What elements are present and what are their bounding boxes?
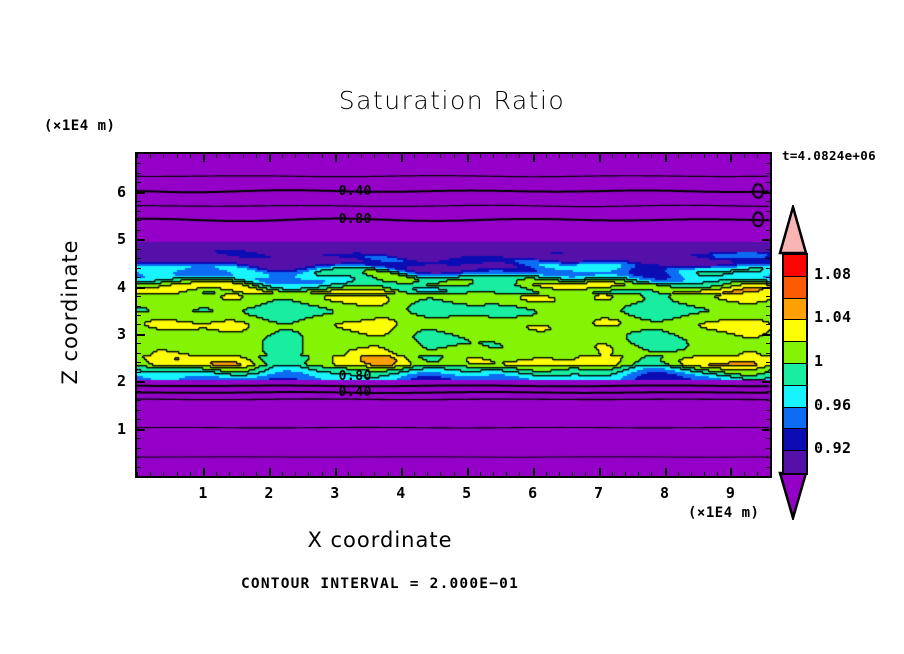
tick-mark bbox=[136, 419, 141, 420]
tick-mark bbox=[467, 153, 469, 162]
tick-mark bbox=[256, 472, 257, 477]
tick-mark bbox=[480, 472, 481, 477]
x-tick-label: 1 bbox=[188, 484, 218, 502]
tick-mark bbox=[766, 476, 771, 477]
x-tick-label: 3 bbox=[320, 484, 350, 502]
colorbar-label: 1.04 bbox=[814, 308, 851, 326]
tick-mark bbox=[744, 153, 745, 158]
tick-mark bbox=[136, 277, 141, 278]
tick-mark bbox=[136, 362, 141, 363]
tick-mark bbox=[638, 153, 639, 158]
tick-mark bbox=[136, 249, 141, 250]
colorbar-band bbox=[784, 299, 806, 321]
tick-mark bbox=[559, 472, 560, 477]
tick-mark bbox=[137, 472, 138, 477]
tick-mark bbox=[625, 153, 626, 158]
tick-mark bbox=[766, 324, 771, 325]
tick-mark bbox=[730, 468, 732, 477]
tick-mark bbox=[136, 230, 141, 231]
colorbar-band bbox=[784, 342, 806, 364]
tick-mark bbox=[269, 153, 271, 162]
tick-mark bbox=[651, 472, 652, 477]
tick-mark bbox=[506, 153, 507, 158]
tick-mark bbox=[136, 467, 141, 468]
tick-mark bbox=[546, 472, 547, 477]
colorbar-band bbox=[784, 451, 806, 473]
tick-mark bbox=[519, 472, 520, 477]
tick-mark bbox=[766, 315, 771, 316]
tick-mark bbox=[136, 173, 141, 174]
tick-mark bbox=[766, 201, 771, 202]
tick-mark bbox=[766, 249, 771, 250]
x-tick-label: 2 bbox=[254, 484, 284, 502]
tick-mark bbox=[651, 153, 652, 158]
tick-mark bbox=[136, 429, 145, 431]
tick-mark bbox=[414, 153, 415, 158]
tick-mark bbox=[136, 268, 141, 269]
tick-mark bbox=[762, 287, 771, 289]
contour-interval-caption: CONTOUR INTERVAL = 2.000E−01 bbox=[0, 576, 760, 592]
tick-mark bbox=[493, 153, 494, 158]
tick-mark bbox=[572, 153, 573, 158]
tick-mark bbox=[295, 153, 296, 158]
tick-mark bbox=[374, 153, 375, 158]
colorbar-band bbox=[784, 255, 806, 277]
tick-mark bbox=[295, 472, 296, 477]
x-tick-label: 9 bbox=[715, 484, 745, 502]
tick-mark bbox=[136, 438, 141, 439]
z-axis-unit-label: (×1E4 m) bbox=[44, 118, 115, 134]
tick-mark bbox=[766, 163, 771, 164]
tick-mark bbox=[216, 153, 217, 158]
tick-mark bbox=[163, 153, 164, 158]
tick-mark bbox=[533, 153, 535, 162]
tick-mark bbox=[766, 296, 771, 297]
tick-mark bbox=[177, 153, 178, 158]
tick-mark bbox=[361, 472, 362, 477]
tick-mark bbox=[585, 472, 586, 477]
tick-mark bbox=[730, 153, 732, 162]
tick-mark bbox=[770, 472, 771, 477]
tick-mark bbox=[136, 372, 141, 373]
tick-mark bbox=[762, 429, 771, 431]
tick-mark bbox=[282, 153, 283, 158]
tick-mark bbox=[766, 438, 771, 439]
tick-mark bbox=[757, 472, 758, 477]
tick-mark bbox=[136, 315, 141, 316]
tick-mark bbox=[243, 153, 244, 158]
tick-mark bbox=[770, 153, 771, 158]
tick-mark bbox=[506, 472, 507, 477]
tick-mark bbox=[136, 211, 141, 212]
tick-mark bbox=[440, 153, 441, 158]
tick-mark bbox=[282, 472, 283, 477]
tick-mark bbox=[136, 182, 141, 183]
tick-mark bbox=[374, 472, 375, 477]
tick-mark bbox=[704, 472, 705, 477]
tick-mark bbox=[163, 472, 164, 477]
tick-mark bbox=[335, 153, 337, 162]
contour-label: 0.40 bbox=[339, 184, 372, 199]
tick-mark bbox=[348, 472, 349, 477]
tick-mark bbox=[665, 468, 667, 477]
tick-mark bbox=[440, 472, 441, 477]
tick-mark bbox=[493, 472, 494, 477]
tick-mark bbox=[766, 391, 771, 392]
contour-plot-area[interactable]: 0.400.800.800.40 bbox=[135, 152, 772, 478]
tick-mark bbox=[599, 153, 601, 162]
tick-mark bbox=[136, 306, 141, 307]
tick-mark bbox=[766, 258, 771, 259]
tick-mark bbox=[322, 153, 323, 158]
tick-mark bbox=[136, 220, 141, 221]
tick-mark bbox=[546, 153, 547, 158]
y-tick-label: 6 bbox=[100, 183, 126, 201]
tick-mark bbox=[766, 419, 771, 420]
tick-mark bbox=[401, 468, 403, 477]
colorbar-label: 1 bbox=[814, 352, 823, 370]
tick-mark bbox=[766, 457, 771, 458]
tick-mark bbox=[136, 258, 141, 259]
tick-mark bbox=[229, 472, 230, 477]
tick-mark bbox=[136, 410, 141, 411]
tick-mark bbox=[585, 153, 586, 158]
tick-mark bbox=[256, 153, 257, 158]
tick-mark bbox=[691, 472, 692, 477]
tick-mark bbox=[467, 468, 469, 477]
tick-mark bbox=[136, 201, 141, 202]
tick-mark bbox=[136, 476, 141, 477]
colorbar-band bbox=[784, 364, 806, 386]
tick-mark bbox=[348, 153, 349, 158]
colorbar-band bbox=[784, 277, 806, 299]
tick-mark bbox=[308, 153, 309, 158]
tick-mark bbox=[322, 472, 323, 477]
tick-mark bbox=[136, 343, 141, 344]
tick-mark bbox=[243, 472, 244, 477]
tick-mark bbox=[762, 334, 771, 336]
tick-mark bbox=[150, 472, 151, 477]
colorbar-band bbox=[784, 386, 806, 408]
tick-mark bbox=[177, 472, 178, 477]
colorbar-bands bbox=[782, 253, 808, 475]
tick-mark bbox=[766, 372, 771, 373]
contour-label: 0.40 bbox=[339, 385, 372, 400]
tick-mark bbox=[717, 472, 718, 477]
tick-mark bbox=[190, 153, 191, 158]
colorbar-label: 0.92 bbox=[814, 439, 851, 457]
tick-mark bbox=[269, 468, 271, 477]
tick-mark bbox=[757, 153, 758, 158]
tick-mark bbox=[678, 472, 679, 477]
tick-mark bbox=[612, 472, 613, 477]
tick-mark bbox=[762, 239, 771, 241]
tick-mark bbox=[744, 472, 745, 477]
colorbar[interactable]: 1.081.0410.960.92 bbox=[778, 205, 898, 520]
tick-mark bbox=[229, 153, 230, 158]
tick-mark bbox=[335, 468, 337, 477]
tick-mark bbox=[612, 153, 613, 158]
tick-mark bbox=[678, 153, 679, 158]
tick-mark bbox=[766, 400, 771, 401]
tick-mark bbox=[766, 211, 771, 212]
tick-mark bbox=[427, 472, 428, 477]
tick-mark bbox=[766, 410, 771, 411]
tick-mark bbox=[308, 472, 309, 477]
page-title: Saturation Ratio bbox=[0, 86, 904, 115]
tick-mark bbox=[427, 153, 428, 158]
tick-mark bbox=[454, 153, 455, 158]
tick-mark bbox=[388, 153, 389, 158]
tick-mark bbox=[572, 472, 573, 477]
tick-mark bbox=[136, 353, 141, 354]
tick-mark bbox=[599, 468, 601, 477]
contour-label: 0.80 bbox=[339, 369, 372, 384]
tick-mark bbox=[401, 153, 403, 162]
tick-mark bbox=[203, 153, 205, 162]
tick-mark bbox=[691, 153, 692, 158]
tick-mark bbox=[766, 182, 771, 183]
x-tick-label: 5 bbox=[452, 484, 482, 502]
tick-mark bbox=[136, 334, 145, 336]
tick-mark bbox=[766, 343, 771, 344]
tick-mark bbox=[766, 362, 771, 363]
x-tick-label: 6 bbox=[518, 484, 548, 502]
tick-mark bbox=[766, 448, 771, 449]
tick-mark bbox=[136, 391, 141, 392]
colorbar-band bbox=[784, 320, 806, 342]
tick-mark bbox=[480, 153, 481, 158]
tick-mark bbox=[533, 468, 535, 477]
x-tick-label: 4 bbox=[386, 484, 416, 502]
tick-mark bbox=[150, 153, 151, 158]
tick-mark bbox=[361, 153, 362, 158]
tick-mark bbox=[762, 381, 771, 383]
y-tick-label: 3 bbox=[100, 325, 126, 343]
tick-mark bbox=[414, 472, 415, 477]
tick-mark bbox=[625, 472, 626, 477]
colorbar-band bbox=[784, 429, 806, 451]
tick-mark bbox=[136, 448, 141, 449]
tick-mark bbox=[766, 467, 771, 468]
tick-mark bbox=[136, 400, 141, 401]
tick-mark bbox=[136, 239, 145, 241]
tick-mark bbox=[190, 472, 191, 477]
tick-mark bbox=[559, 153, 560, 158]
x-axis-title: X coordinate bbox=[0, 528, 760, 552]
tick-mark bbox=[766, 220, 771, 221]
tick-mark bbox=[717, 153, 718, 158]
colorbar-label: 0.96 bbox=[814, 396, 851, 414]
tick-mark bbox=[665, 153, 667, 162]
tick-mark bbox=[203, 468, 205, 477]
tick-mark bbox=[766, 306, 771, 307]
tick-mark bbox=[766, 353, 771, 354]
tick-mark bbox=[454, 472, 455, 477]
tick-mark bbox=[136, 324, 141, 325]
tick-mark bbox=[766, 230, 771, 231]
tick-mark bbox=[766, 277, 771, 278]
tick-mark bbox=[136, 287, 145, 289]
time-stamp-label: t=4.0824e+06 bbox=[782, 148, 876, 163]
tick-mark bbox=[136, 296, 141, 297]
saturation-ratio-field bbox=[137, 154, 770, 476]
colorbar-label: 1.08 bbox=[814, 265, 851, 283]
contour-label: 0.80 bbox=[339, 212, 372, 227]
y-tick-label: 4 bbox=[100, 278, 126, 296]
tick-mark bbox=[766, 268, 771, 269]
tick-mark bbox=[704, 153, 705, 158]
colorbar-band bbox=[784, 408, 806, 430]
x-tick-label: 8 bbox=[650, 484, 680, 502]
tick-mark bbox=[136, 192, 145, 194]
tick-mark bbox=[762, 192, 771, 194]
y-tick-label: 1 bbox=[100, 420, 126, 438]
x-axis-unit-label: (×1E4 m) bbox=[688, 505, 759, 521]
x-tick-label: 7 bbox=[584, 484, 614, 502]
tick-mark bbox=[638, 472, 639, 477]
tick-mark bbox=[766, 173, 771, 174]
tick-mark bbox=[519, 153, 520, 158]
y-axis-title: Z coordinate bbox=[58, 222, 82, 402]
tick-mark bbox=[388, 472, 389, 477]
tick-mark bbox=[136, 163, 141, 164]
tick-mark bbox=[216, 472, 217, 477]
y-tick-label: 5 bbox=[100, 230, 126, 248]
tick-mark bbox=[136, 381, 145, 383]
tick-mark bbox=[136, 457, 141, 458]
y-tick-label: 2 bbox=[100, 372, 126, 390]
tick-mark bbox=[137, 153, 138, 158]
